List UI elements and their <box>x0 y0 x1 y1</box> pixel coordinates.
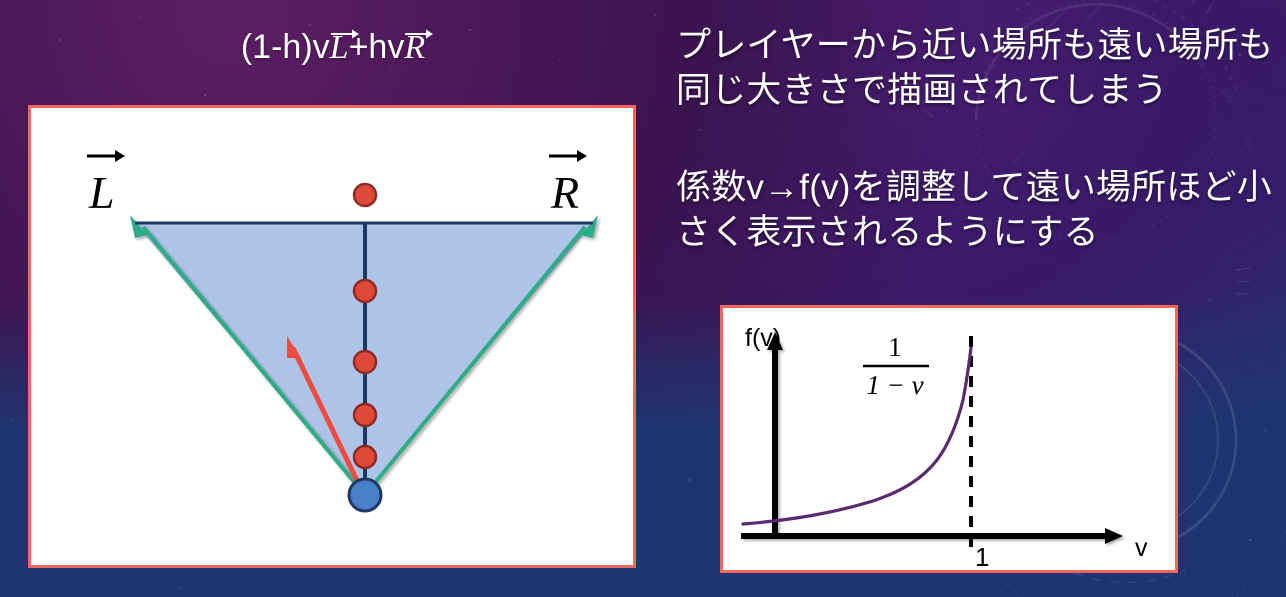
sample-point-dot <box>354 351 376 373</box>
vector-R-symbol: R <box>404 30 425 65</box>
formula-numerator: 1 <box>888 332 902 362</box>
player-position-dot <box>349 479 381 511</box>
sample-point-dot <box>354 280 376 302</box>
curve-formula-label: 1 1 − v <box>863 332 929 400</box>
frustum-diagram-panel: L R <box>28 105 636 568</box>
y-axis-label: f(v) <box>745 324 781 352</box>
x-axis <box>741 528 1123 544</box>
vector-label-R-text: R <box>550 167 579 218</box>
vector-arrow-icon <box>404 27 434 39</box>
vector-label-L: L <box>87 150 125 218</box>
formula-prefix: (1-h)v <box>241 28 330 66</box>
slide-canvas: 150 160 170 100 90 110 (1-h)vL +hvR <box>0 0 1286 597</box>
vector-arrow-icon <box>577 150 587 162</box>
title-formula: (1-h)vL +hvR <box>28 30 638 65</box>
fv-chart: f(v) v 1 1 1 − v <box>723 308 1175 570</box>
vector-arrow-icon <box>115 150 125 162</box>
vector-arrow-icon <box>330 27 360 39</box>
fv-graph-panel: f(v) v 1 1 1 − v <box>720 305 1178 573</box>
sample-point-dot <box>354 184 376 206</box>
y-axis <box>767 332 783 536</box>
formula-denominator: 1 − v <box>866 370 923 400</box>
description-paragraph-1: プレイヤーから近い場所も遠い場所も同じ大きさで描画されてしまう <box>676 24 1276 114</box>
description-paragraph-2: 係数v→f(v)を調整して遠い場所ほど小さく表示されるようにする <box>676 166 1276 256</box>
x-axis-label: v <box>1135 534 1148 562</box>
vector-label-L-text: L <box>88 167 115 218</box>
x-axis-arrowhead-icon <box>1105 528 1123 544</box>
x-tick-label-1: 1 <box>975 542 989 570</box>
sample-point-dot <box>354 404 376 426</box>
vector-L-symbol: L <box>330 30 349 65</box>
sample-point-dot <box>354 446 376 468</box>
frustum-diagram: L R <box>31 108 633 565</box>
vector-label-R: R <box>549 150 587 218</box>
